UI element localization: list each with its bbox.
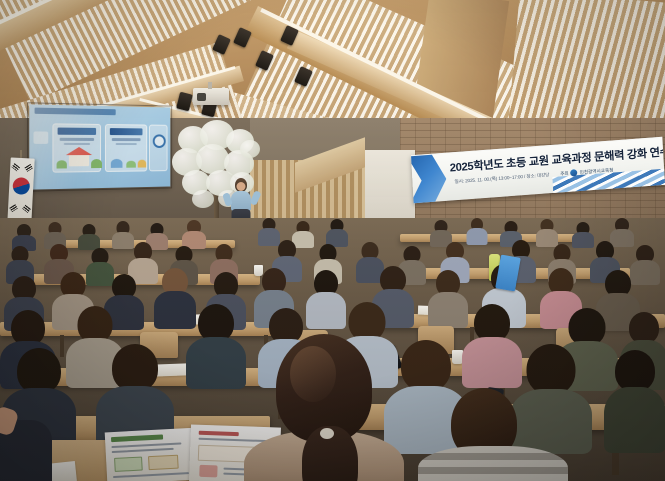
- attendee: [536, 219, 558, 246]
- korean-national-flag: [7, 157, 34, 224]
- banner-host-label: 주최: [560, 170, 569, 177]
- projector-icon: [193, 88, 229, 105]
- attendee: [182, 220, 206, 248]
- education-office-logo-icon: [570, 169, 577, 177]
- banner-chevron-icon: [411, 150, 448, 203]
- attendee-foreground-right: [418, 388, 568, 481]
- screen-frame: [27, 102, 172, 192]
- track-light-icon: [233, 27, 252, 48]
- seating-area: [0, 218, 665, 481]
- foreground-subject: [244, 334, 404, 481]
- attendee: [604, 350, 665, 450]
- taeguk-symbol-icon: [12, 177, 30, 195]
- photo-scene: 2025학년도 초등 교원 교육과정 문해력 강화 연수 일시: 2025. 1…: [0, 0, 665, 481]
- workbook: [105, 428, 200, 481]
- banner-subline: 일시: 2025. 11. 00.(목) 13:00~17:00 / 장소: 대…: [454, 172, 549, 185]
- attendee: [466, 218, 487, 244]
- attendee: [78, 224, 100, 249]
- ceiling-slat-panel-right: [507, 0, 665, 128]
- attendee: [186, 304, 246, 386]
- hair-tie: [320, 428, 334, 439]
- attendee: [326, 219, 348, 246]
